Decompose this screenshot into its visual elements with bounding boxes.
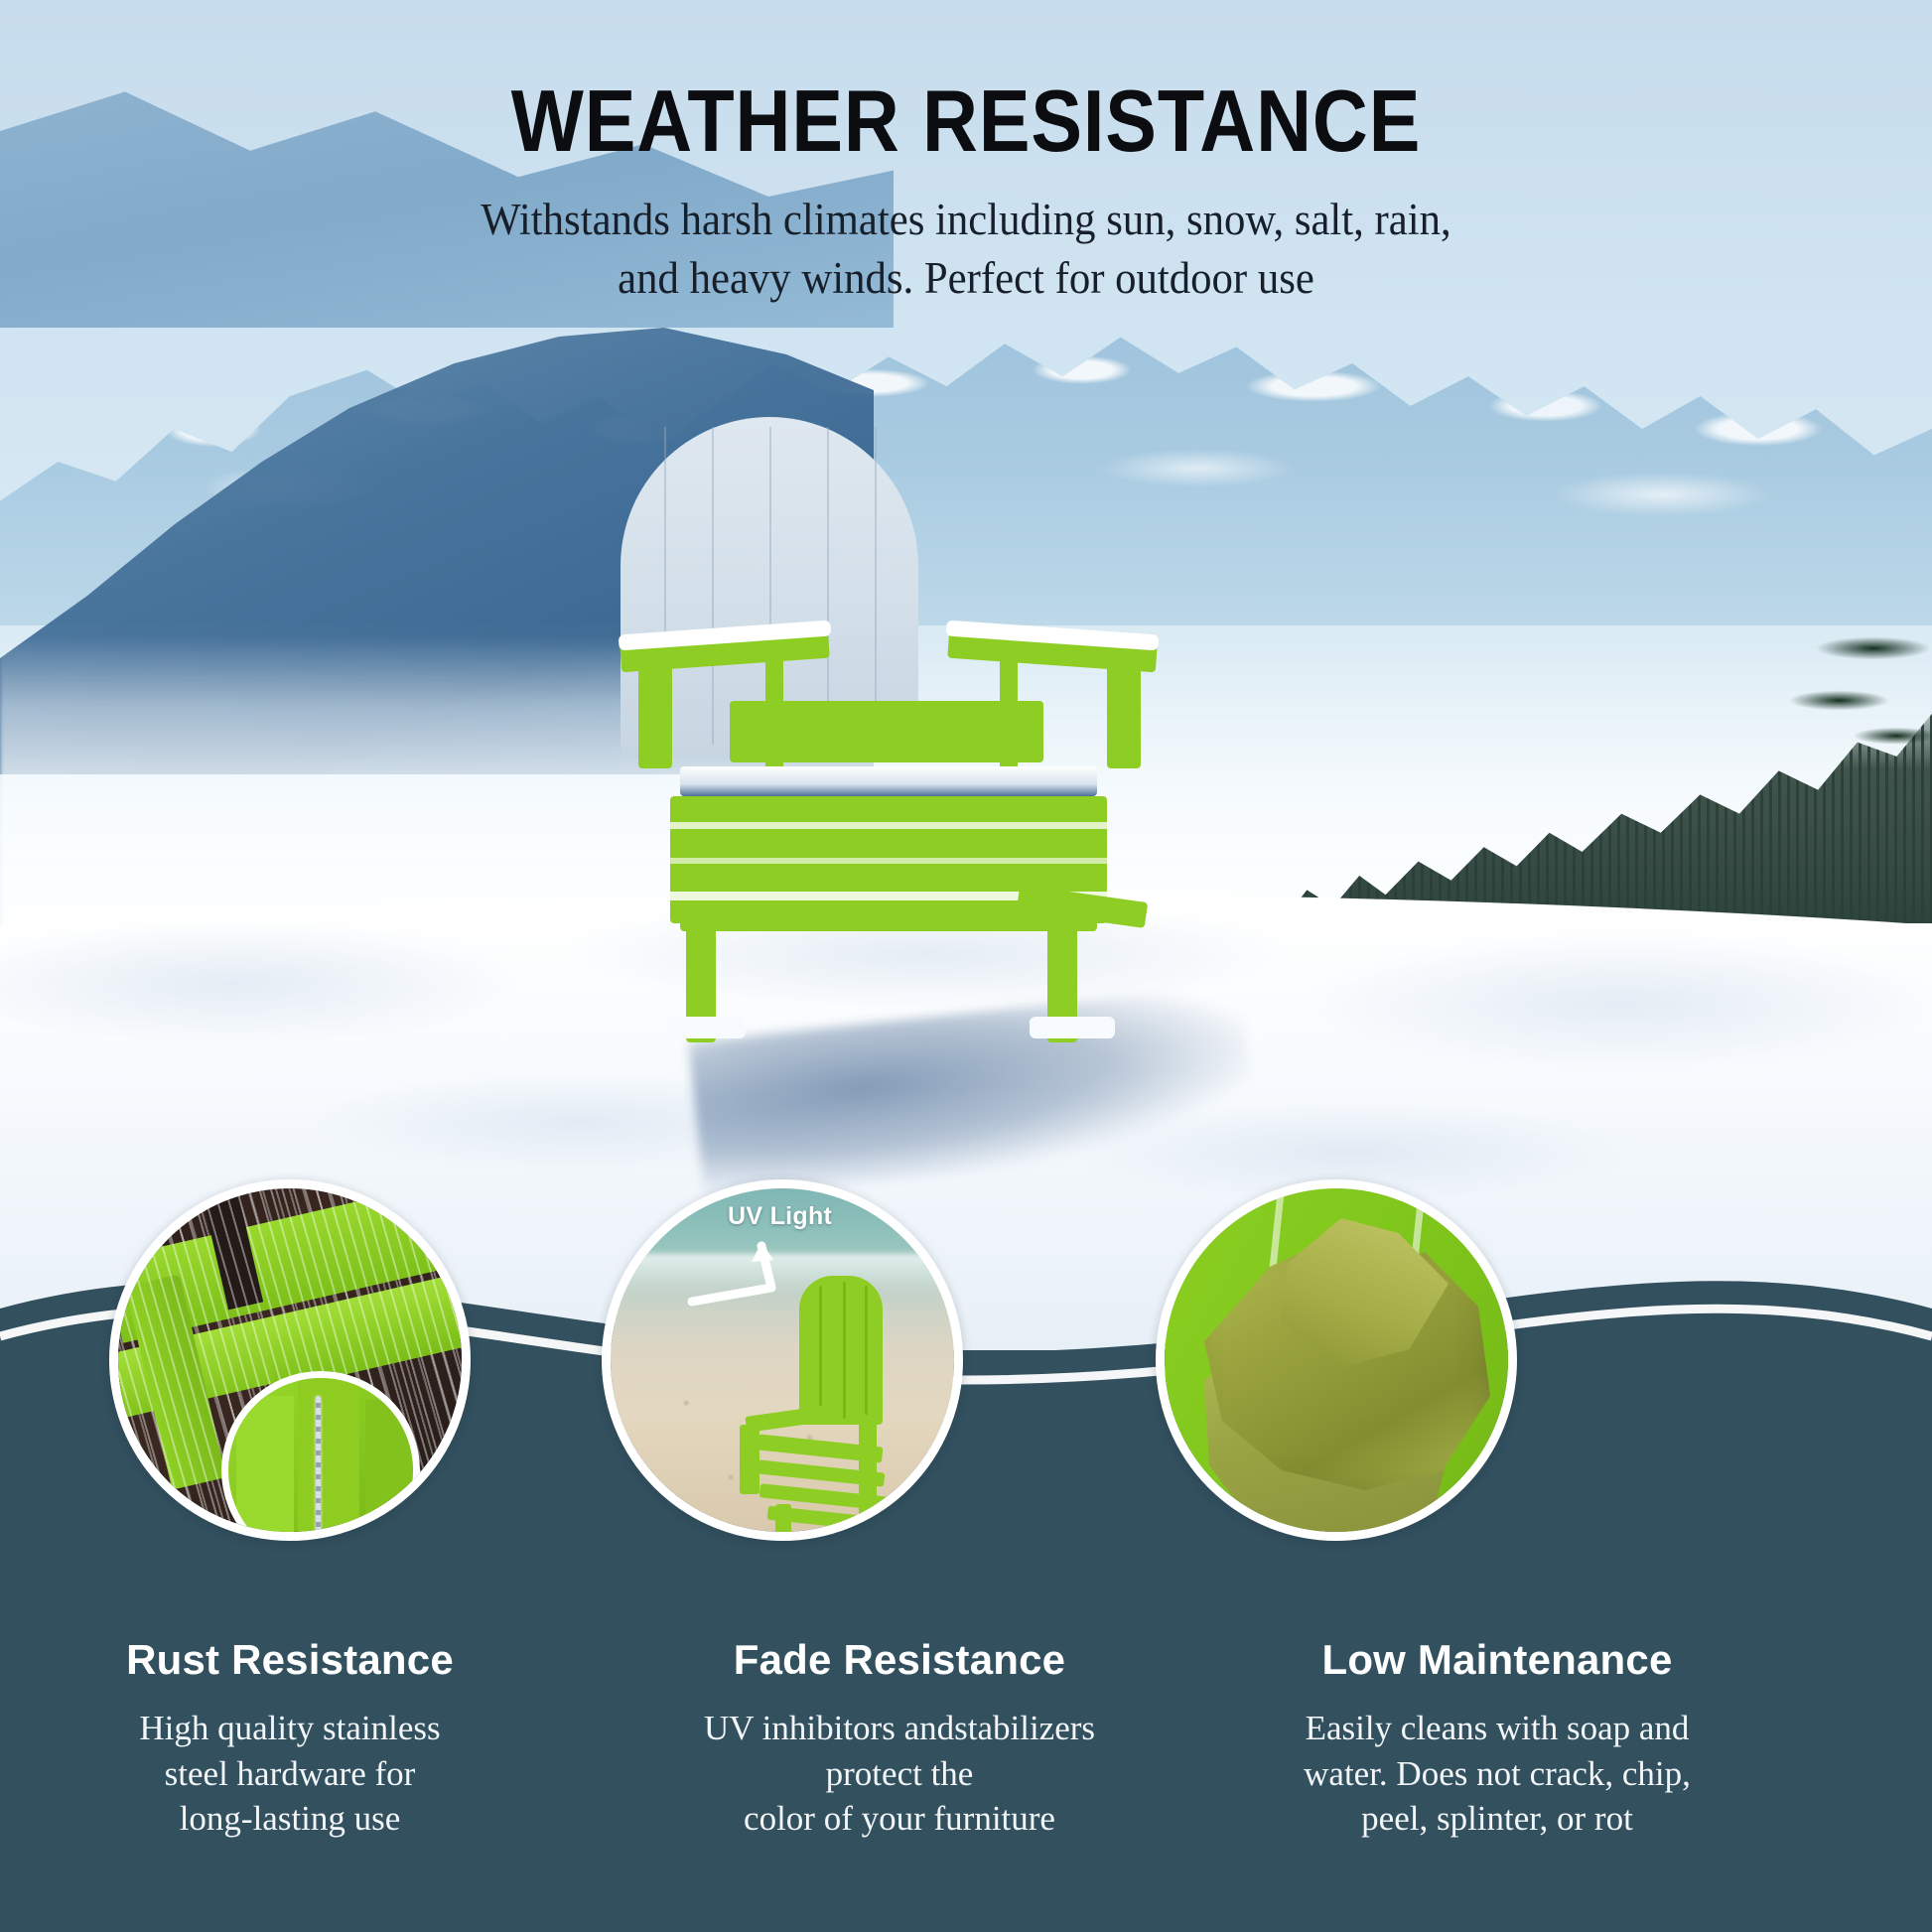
- chair-brace-right: [1000, 653, 1018, 772]
- feature-heading-2: Fade Resistance: [641, 1636, 1158, 1684]
- circle-frame-3: [1156, 1179, 1517, 1541]
- feature-image-low-maintenance: [1156, 1179, 1517, 1541]
- feature-heading-1: Rust Resistance: [32, 1636, 548, 1684]
- subtitle-line-1: Withstands harsh climates including sun,…: [49, 191, 1884, 249]
- feature-body-1-line-3: long-lasting use: [180, 1799, 401, 1838]
- circle-frame-1: [109, 1179, 471, 1541]
- pine-branch: [1714, 586, 1932, 794]
- feature-body-1-line-2: steel hardware for: [165, 1754, 416, 1793]
- snow-at-leg-right: [1030, 1017, 1115, 1038]
- header-block: WEATHER RESISTANCE Withstands harsh clim…: [0, 77, 1932, 307]
- feature-image-fade-resistance: UV Light: [602, 1179, 963, 1541]
- snow-at-leg-left: [666, 1017, 746, 1038]
- uv-light-label: UV Light: [728, 1202, 832, 1231]
- feature-card-fade-resistance: Fade Resistance UV inhibitors andstabili…: [641, 1636, 1158, 1842]
- feature-body-3-line-2: water. Does not crack, chip,: [1304, 1754, 1691, 1793]
- adirondack-chair-hero: [621, 417, 1256, 1072]
- feature-body-1: High quality stainless steel hardware fo…: [32, 1706, 548, 1842]
- chair-seat: [680, 766, 1097, 796]
- feature-heading-3: Low Maintenance: [1239, 1636, 1755, 1684]
- feature-body-2: UV inhibitors andstabilizers protect the…: [641, 1706, 1158, 1842]
- feature-body-3-line-3: peel, splinter, or rot: [1361, 1799, 1633, 1838]
- chair-brace-left: [765, 653, 783, 772]
- chair-arm-support-right: [1107, 659, 1141, 768]
- uv-light-arrow-icon: [686, 1240, 835, 1325]
- feature-body-3: Easily cleans with soap and water. Does …: [1239, 1706, 1755, 1842]
- feature-body-2-line-2: protect the: [826, 1754, 974, 1793]
- chair-arm-support-left: [638, 659, 672, 768]
- page-subtitle: Withstands harsh climates including sun,…: [49, 191, 1884, 307]
- feature-body-1-line-1: High quality stainless: [139, 1709, 440, 1747]
- feature-body-3-line-1: Easily cleans with soap and: [1306, 1709, 1690, 1747]
- feature-card-rust-resistance: Rust Resistance High quality stainless s…: [32, 1636, 548, 1842]
- feature-card-low-maintenance: Low Maintenance Easily cleans with soap …: [1239, 1636, 1755, 1842]
- feature-body-2-line-3: color of your furniture: [744, 1799, 1055, 1838]
- subtitle-line-2: and heavy winds. Perfect for outdoor use: [49, 249, 1884, 308]
- feature-body-2-line-1: UV inhibitors andstabilizers: [704, 1709, 1095, 1747]
- stainless-chain-icon: [316, 1396, 321, 1541]
- feature-image-rust-resistance: [109, 1179, 471, 1541]
- circle-frame-2: UV Light: [602, 1179, 963, 1541]
- page-title: WEATHER RESISTANCE: [116, 77, 1816, 165]
